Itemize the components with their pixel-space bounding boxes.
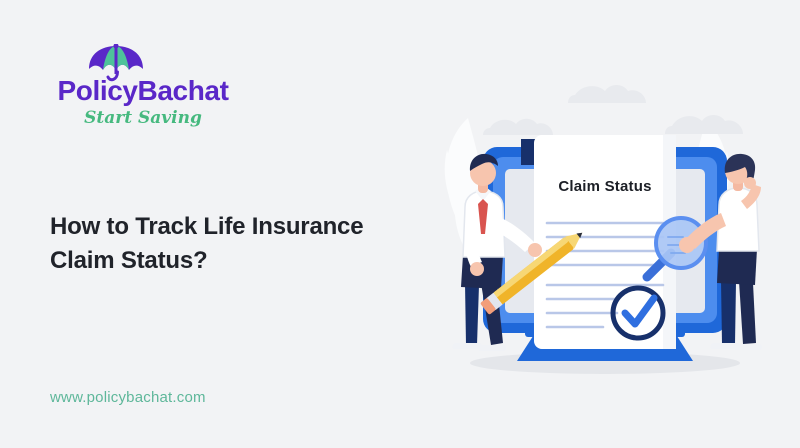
page-title: How to Track Life Insurance Claim Status…	[50, 210, 450, 278]
page-title-line-2: Claim Status?	[50, 247, 207, 274]
banner-canvas: PolicyBachat Start Saving How to Track L…	[0, 0, 800, 448]
page-title-line-1: How to Track Life Insurance	[50, 213, 363, 240]
brand-tagline: Start Saving	[38, 110, 248, 127]
site-url[interactable]: www.policybachat.com	[50, 389, 206, 406]
brand-name: PolicyBachat	[38, 77, 248, 105]
claim-status-illustration: Claim Status	[425, 95, 785, 395]
document-title: Claim Status	[558, 178, 651, 195]
